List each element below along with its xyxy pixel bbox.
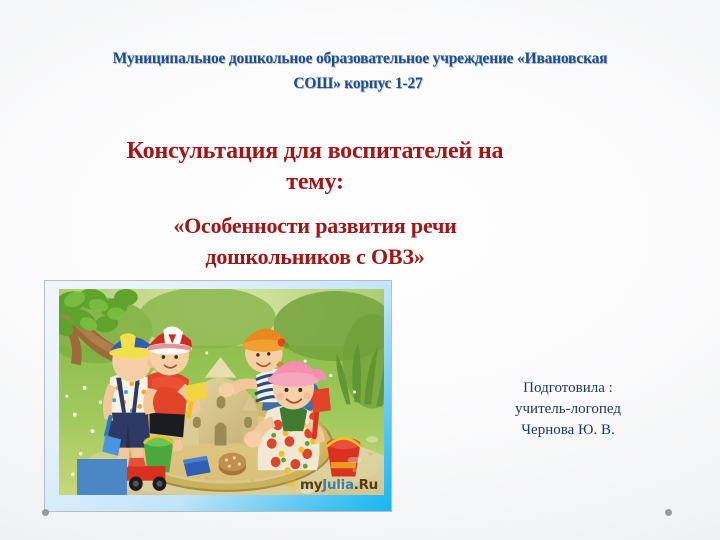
header-line-1: Муниципальное дошкольное образовательное…: [58, 46, 662, 71]
title-part-1-line-1: Консультация для воспитателей на: [118, 136, 512, 167]
presentation-slide: Муниципальное дошкольное образовательное…: [0, 0, 720, 540]
author-line-role: учитель-логопед: [452, 399, 684, 420]
slide-header: Муниципальное дошкольное образовательное…: [58, 46, 662, 96]
title-part-2: «Особенности развития речи дошкольников …: [118, 210, 512, 272]
toy-sand-cake: [219, 453, 247, 476]
watermark-part-julia: Julia: [322, 477, 354, 493]
blue-overlay-rectangle: [77, 459, 127, 495]
decorative-dot-left: [42, 509, 49, 516]
decorative-dot-right: [665, 509, 672, 516]
author-line-prepared-by: Подготовила :: [452, 378, 684, 399]
flower-icon: [287, 479, 298, 490]
picture-frame: myJulia.Ru: [44, 280, 392, 512]
title-part-1: Консультация для воспитателей на тему:: [118, 136, 512, 198]
page-title: Консультация для воспитателей на тему: «…: [118, 136, 512, 272]
title-part-2-line-1: «Особенности развития речи: [118, 210, 512, 241]
title-part-1-line-2: тему:: [118, 167, 512, 198]
sandbox-illustration: myJulia.Ru: [59, 289, 384, 495]
watermark-myjulia: myJulia.Ru: [300, 477, 378, 493]
author-line-name: Чернова Ю. В.: [452, 420, 684, 441]
watermark-part-my: my: [300, 477, 322, 493]
author-block: Подготовила : учитель-логопед Чернова Ю.…: [452, 378, 684, 441]
title-part-2-line-2: дошкольников с ОВЗ»: [118, 241, 512, 272]
watermark-part-ru: .Ru: [354, 477, 378, 493]
header-line-2: СОШ» корпус 1-27: [56, 71, 660, 96]
